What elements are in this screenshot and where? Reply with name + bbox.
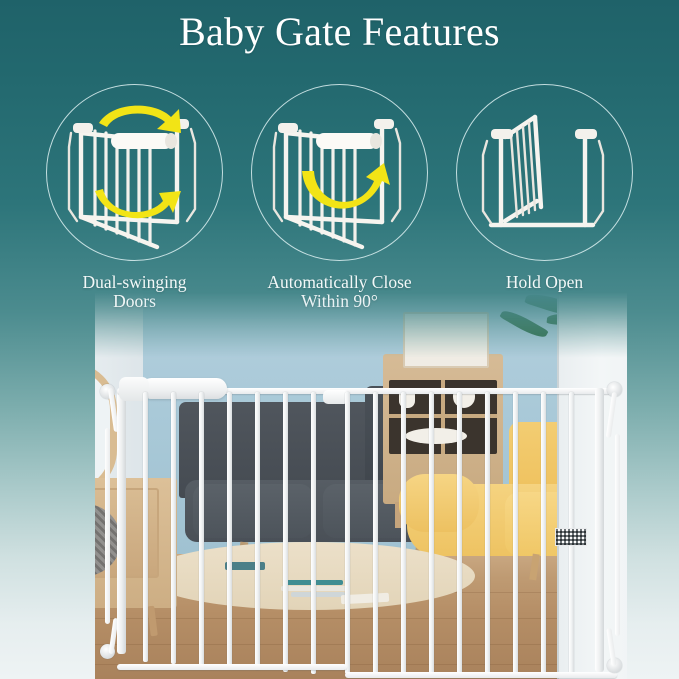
gate-bar bbox=[373, 392, 378, 674]
gate-handle[interactable] bbox=[141, 378, 227, 399]
gate-mesh-patch bbox=[555, 528, 587, 546]
auto-close-arrow bbox=[302, 163, 390, 209]
gate-bar bbox=[143, 392, 148, 662]
gate-hold-open-icon bbox=[461, 89, 629, 257]
gate-bar bbox=[227, 392, 232, 668]
feature-ring-1 bbox=[46, 84, 223, 261]
gate-auto-close-icon bbox=[256, 89, 424, 257]
gate-bar bbox=[311, 392, 316, 674]
gate-bar bbox=[199, 392, 204, 666]
feature-caption-3: Hold Open bbox=[506, 273, 583, 292]
gate-bar bbox=[171, 392, 176, 664]
feature-automatically-close: Automatically Close Within 90° bbox=[237, 84, 442, 311]
gate-bottom-rail-right bbox=[345, 672, 617, 678]
gate-bar bbox=[345, 392, 350, 674]
gate-swing-arm-left bbox=[105, 428, 110, 624]
gate-post-left bbox=[117, 388, 126, 654]
gate-post-right bbox=[595, 388, 604, 672]
gate-bar bbox=[255, 392, 260, 670]
gate-bar bbox=[457, 392, 462, 674]
feature-dual-swinging-doors: Dual-swinging Doors bbox=[32, 84, 237, 311]
gate-bar bbox=[401, 392, 406, 674]
gate-bar bbox=[485, 392, 490, 674]
feature-ring-3 bbox=[456, 84, 633, 261]
gate-bar bbox=[283, 392, 288, 672]
swing-arrow-top bbox=[99, 105, 181, 132]
gate-dual-swing-icon bbox=[51, 89, 219, 257]
gate-bar bbox=[541, 392, 546, 674]
baby-gate-product bbox=[95, 292, 627, 679]
photo-scene bbox=[95, 292, 627, 679]
feature-row: Dual-swinging Doors bbox=[0, 84, 679, 309]
gate-swing-arm-right bbox=[615, 434, 620, 636]
page-title: Baby Gate Features bbox=[0, 8, 679, 56]
gate-bar bbox=[513, 392, 518, 674]
feature-hold-open: Hold Open bbox=[442, 84, 647, 292]
gate-swing-arm-right-top bbox=[606, 392, 617, 438]
gate-bottom-rail-left bbox=[117, 664, 347, 670]
product-lifestyle-photo bbox=[95, 292, 627, 679]
feature-ring-2 bbox=[251, 84, 428, 261]
product-feature-poster: Baby Gate Features bbox=[0, 0, 679, 679]
gate-bar bbox=[429, 392, 434, 674]
